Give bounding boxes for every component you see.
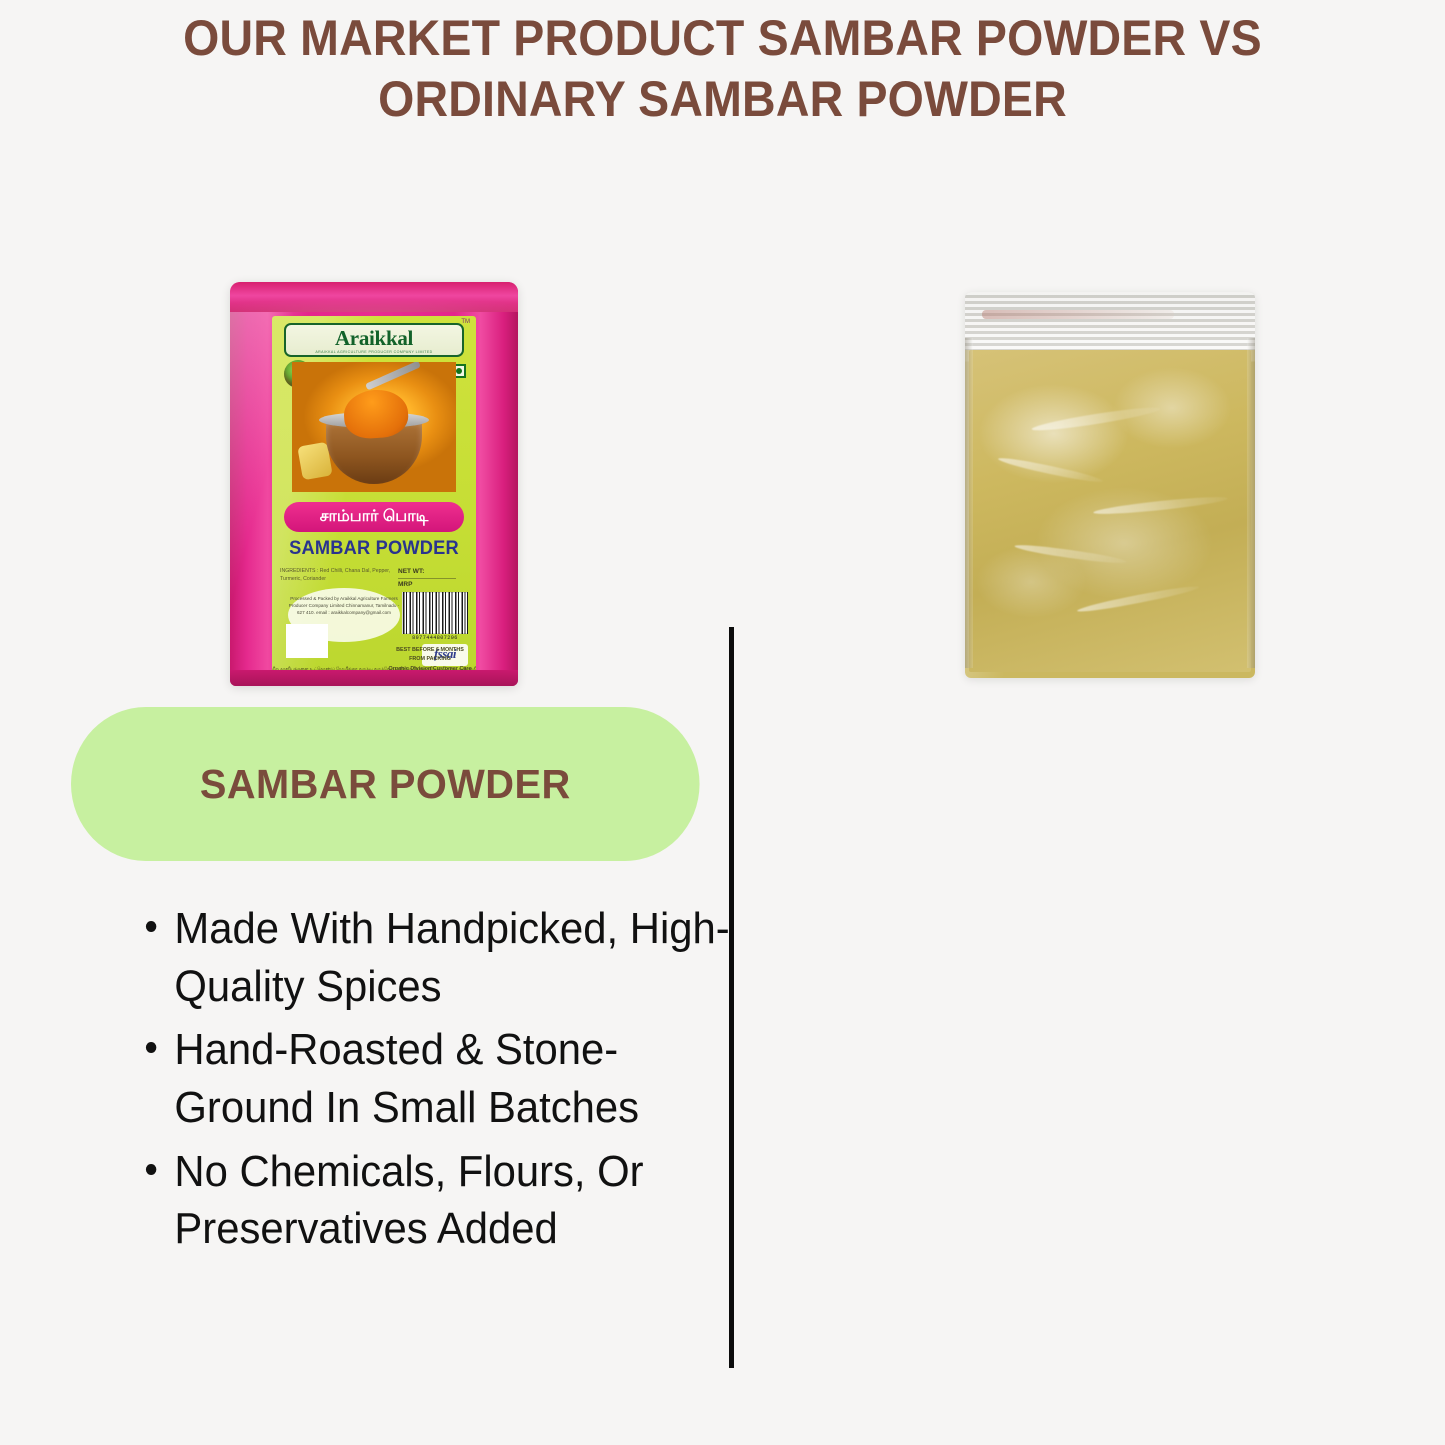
brand-name: Araikkal: [286, 326, 462, 351]
best-before-line: BEST BEFORE 6 MONTHS FROM PACKING: [396, 647, 464, 662]
packet-top-seal: [230, 282, 518, 312]
ladle-icon: [365, 362, 421, 390]
blank-label-box: [286, 624, 328, 658]
net-weight-label: NET WT:: [398, 566, 468, 578]
brand-badge: Araikkal ARAIKKAL AGRICULTURE PRODUCER C…: [284, 323, 464, 357]
bag-crease: [998, 455, 1104, 485]
benefits-list-our-product: Made With Handpicked, High-Quality Spice…: [125, 900, 744, 1264]
bag-right-edge: [1247, 338, 1255, 668]
column-ordinary-product: ORDINARY SAMBAR POWDER Often Made With L…: [775, 0, 1415, 1445]
packet-bottom-seal: [230, 670, 518, 686]
list-item: Made With Handpicked, High-Quality Spice…: [174, 900, 744, 1015]
bag-crease: [1031, 404, 1161, 434]
brand-subtitle: ARAIKKAL AGRICULTURE PRODUCER COMPANY LI…: [286, 350, 462, 354]
bag-crease: [1014, 542, 1127, 566]
trademark-symbol: TM: [461, 319, 470, 325]
column-our-product: Araikkal ARAIKKAL AGRICULTURE PRODUCER C…: [35, 0, 715, 1445]
loose-powder-fill: [969, 350, 1251, 672]
left-image-stage: Araikkal ARAIKKAL AGRICULTURE PRODUCER C…: [35, 268, 715, 698]
food-photo: [292, 362, 456, 492]
label-pill-our-product: SAMBAR POWDER: [71, 707, 700, 861]
packet-front-label: Araikkal ARAIKKAL AGRICULTURE PRODUCER C…: [272, 316, 476, 674]
english-product-name: SAMBAR POWDER: [276, 538, 472, 560]
ordinary-sambar-powder-bag-image: [965, 292, 1255, 678]
ingredients-text: INGREDIENTS : Red Chilli, Chana Dal, Pep…: [280, 568, 404, 584]
net-weight-block: NET WT: MRP: [398, 566, 468, 592]
right-image-stage: [775, 268, 1415, 698]
bag-crease: [1093, 494, 1229, 517]
comparison-columns: Araikkal ARAIKKAL AGRICULTURE PRODUCER C…: [0, 0, 1445, 1445]
barcode-number: 8977444807206: [402, 635, 468, 641]
araikkal-sambar-powder-packet-image: Araikkal ARAIKKAL AGRICULTURE PRODUCER C…: [230, 282, 518, 686]
bag-crease: [1077, 583, 1200, 615]
barcode-icon: [402, 592, 468, 634]
tamil-product-name: சாம்பார் பொடி: [284, 502, 464, 532]
zip-lock-strip: [965, 292, 1255, 350]
list-item: No Chemicals, Flours, Or Preservatives A…: [174, 1143, 744, 1258]
label-pill-our-product-text: SAMBAR POWDER: [200, 761, 571, 808]
mrp-label: MRP: [398, 579, 468, 591]
list-item: Hand-Roasted & Stone-Ground In Small Bat…: [174, 1021, 744, 1136]
bag-left-edge: [965, 338, 973, 668]
